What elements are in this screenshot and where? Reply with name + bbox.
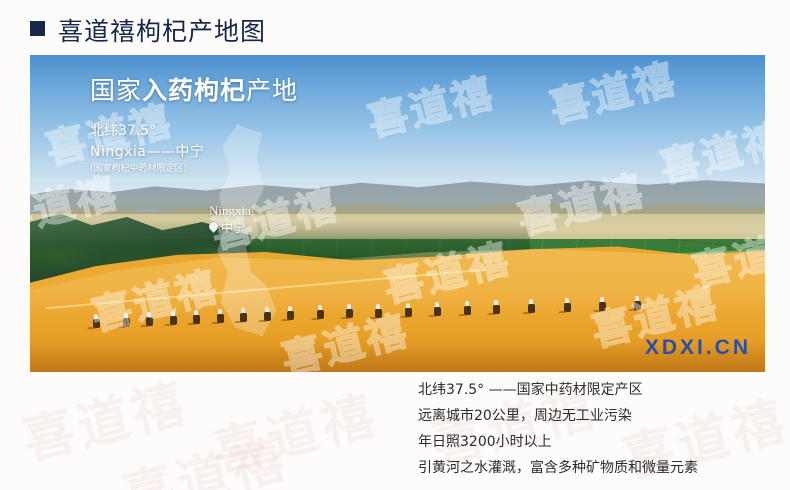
overlay-headline: 国家入药枸杞产地 — [90, 77, 298, 105]
description-block: 北纬37.5° ——国家中药材限定产区远离城市20公里，周边无工业污染年日照32… — [418, 377, 698, 481]
camel-rider — [493, 305, 500, 314]
camel-rider — [217, 314, 224, 323]
camel-rider — [405, 308, 412, 317]
camel-rider — [193, 315, 200, 324]
camel-caravan — [81, 292, 669, 328]
map-pin-label-en: Ningxia — [209, 204, 251, 218]
overlay-region: Ningxia——中宁 — [90, 142, 298, 163]
overlay-latitude: 北纬37.5° — [90, 121, 298, 142]
camel-rider — [287, 311, 294, 320]
overlay-note: (国家枸杞中药材限定区) — [90, 163, 298, 177]
square-bullet-icon — [30, 21, 45, 36]
overlay-headline-bold: 入药枸杞 — [142, 76, 246, 105]
description-line: 引黄河之水灌溉，富含多种矿物质和微量元素 — [418, 455, 698, 481]
camel-rider — [123, 318, 130, 327]
page-brand-watermark: 喜道禧 — [203, 373, 384, 486]
camel-rider — [434, 307, 441, 316]
map-pin-icon — [209, 222, 218, 234]
camel-rider — [375, 309, 382, 318]
camel-rider — [93, 319, 100, 328]
map-pin-label-cn: 中宁 — [221, 219, 245, 236]
camel-rider — [564, 303, 571, 312]
description-line: 远离城市20公里，周边无工业污染 — [418, 403, 698, 429]
site-watermark: XDXI.CN — [645, 336, 751, 360]
page-title: 喜道禧枸杞产地图 — [58, 12, 266, 48]
camel-rider — [528, 304, 535, 313]
photo-overlay-text: 国家入药枸杞产地 北纬37.5° Ningxia——中宁 (国家枸杞中药材限定区… — [90, 77, 298, 176]
camel-rider — [634, 301, 641, 310]
ningxia-map-pin-label: Ningxia 中宁 — [209, 204, 251, 236]
overlay-headline-suffix: 产地 — [246, 76, 298, 105]
overlay-headline-prefix: 国家 — [90, 76, 142, 105]
camel-rider — [264, 312, 271, 321]
description-line: 北纬37.5° ——国家中药材限定产区 — [418, 377, 698, 403]
camel-rider — [464, 306, 471, 315]
camel-rider — [170, 316, 177, 325]
camel-rider — [599, 302, 606, 311]
page-brand-watermark: 喜道禧 — [13, 361, 194, 474]
section-header: 喜道禧枸杞产地图 — [0, 0, 790, 55]
camel-rider — [317, 310, 324, 319]
camel-rider — [146, 317, 153, 326]
origin-map-photo: 喜道禧喜道禧喜道禧喜道禧喜道禧喜道禧喜道禧喜道禧喜道禧喜道禧喜道禧喜道禧 国家入… — [30, 55, 765, 372]
camel-rider — [346, 309, 353, 318]
description-line: 年日照3200小时以上 — [418, 429, 698, 455]
camel-rider — [240, 313, 247, 322]
page-brand-watermark: 喜道禧 — [113, 417, 294, 490]
